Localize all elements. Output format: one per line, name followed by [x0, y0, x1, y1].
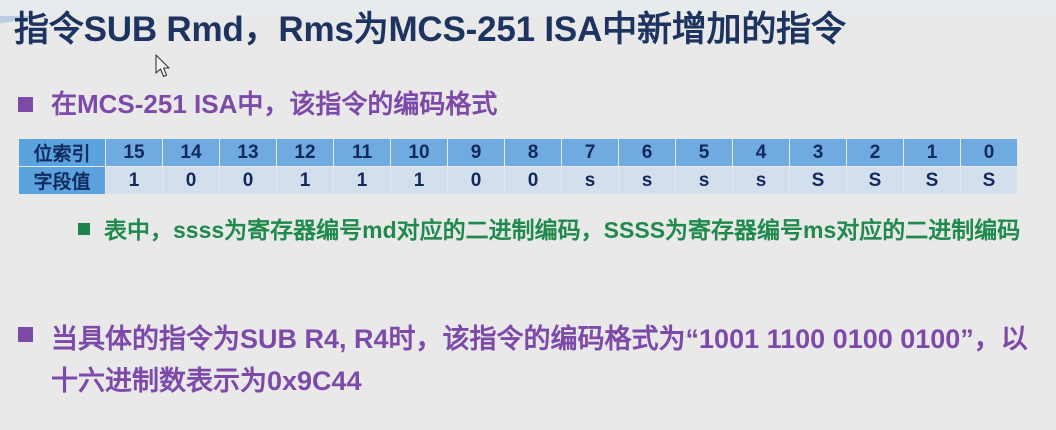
bit-index-cell: 2 [847, 139, 903, 166]
field-value-cell: 0 [220, 167, 276, 194]
bit-index-cell: 11 [334, 139, 390, 166]
bit-index-cell: 9 [448, 139, 504, 166]
bullet-item-example-encoding: 当具体的指令为SUB R4, R4时，该指令的编码格式为“1001 1100 0… [18, 318, 1043, 402]
bit-index-cell: 8 [505, 139, 561, 166]
bit-index-cell: 7 [562, 139, 618, 166]
square-bullet-icon [18, 97, 33, 112]
field-value-cell: 0 [163, 167, 219, 194]
bullet-item-ssss-explanation: 表中，ssss为寄存器编号md对应的二进制编码，SSSS为寄存器编号ms对应的二… [78, 214, 1048, 247]
square-bullet-icon [78, 223, 90, 235]
field-value-cell: 1 [391, 167, 447, 194]
bullet-label-ssss-explanation: 表中，ssss为寄存器编号md对应的二进制编码，SSSS为寄存器编号ms对应的二… [104, 214, 1020, 247]
bit-index-cell: 0 [961, 139, 1017, 166]
bit-index-cell: 12 [277, 139, 333, 166]
bullet-label-encoding-format: 在MCS-251 ISA中，该指令的编码格式 [51, 88, 497, 121]
row-label-bit-index: 位索引 [19, 139, 105, 166]
field-value-cell: S [961, 167, 1017, 194]
field-value-cell: s [733, 167, 789, 194]
field-value-cell: 1 [277, 167, 333, 194]
page-title: 指令SUB Rmd，Rms为MCS-251 ISA中新增加的指令 [14, 8, 1044, 52]
table-row-field-value: 字段值 1 0 0 1 1 1 0 0 s s s s S S S S [19, 167, 1017, 194]
bit-index-cell: 13 [220, 139, 276, 166]
slide-canvas: 指令SUB Rmd，Rms为MCS-251 ISA中新增加的指令 在MCS-25… [0, 0, 1056, 430]
field-value-cell: S [847, 167, 903, 194]
bit-index-cell: 5 [676, 139, 732, 166]
bit-index-cell: 14 [163, 139, 219, 166]
bit-index-cell: 10 [391, 139, 447, 166]
field-value-cell: s [619, 167, 675, 194]
bit-index-cell: 3 [790, 139, 846, 166]
field-value-cell: S [904, 167, 960, 194]
square-bullet-icon [18, 327, 33, 342]
field-value-cell: 1 [106, 167, 162, 194]
field-value-cell: s [676, 167, 732, 194]
bullet-label-example-encoding: 当具体的指令为SUB R4, R4时，该指令的编码格式为“1001 1100 0… [51, 318, 1043, 402]
bit-index-cell: 4 [733, 139, 789, 166]
row-label-field-value: 字段值 [19, 167, 105, 194]
bit-index-cell: 6 [619, 139, 675, 166]
field-value-cell: s [562, 167, 618, 194]
bit-index-cell: 1 [904, 139, 960, 166]
table-row-bit-index: 位索引 15 14 13 12 11 10 9 8 7 6 5 4 3 2 1 … [19, 139, 1017, 166]
bit-index-cell: 15 [106, 139, 162, 166]
field-value-cell: S [790, 167, 846, 194]
bullet-item-encoding-format: 在MCS-251 ISA中，该指令的编码格式 [18, 88, 1038, 121]
field-value-cell: 0 [448, 167, 504, 194]
mouse-pointer-icon [155, 54, 173, 80]
field-value-cell: 0 [505, 167, 561, 194]
field-value-cell: 1 [334, 167, 390, 194]
instruction-encoding-table: 位索引 15 14 13 12 11 10 9 8 7 6 5 4 3 2 1 … [18, 138, 1018, 195]
